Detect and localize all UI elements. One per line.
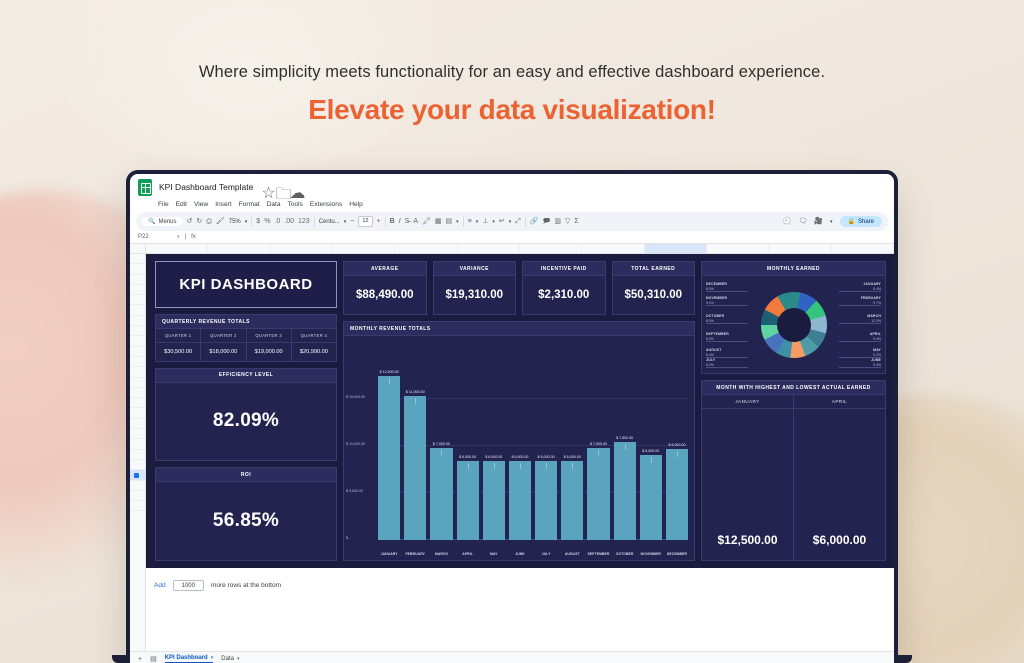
star-icon[interactable]: ☆ [261,183,269,191]
dashboard-right-column: MONTHLY EARNED JANUARY8.4%FEBRUARY9.7%MA… [701,261,886,561]
monthly-revenue-bar-chart: $ 15,000.00$ 10,000.00$ 5,000.00$ -$ 12,… [344,336,694,560]
print-icon[interactable]: ⎙ [206,218,212,225]
kpi-dashboard-canvas: KPI DASHBOARD QUARTERLY REVENUE TOTALS Q… [146,254,894,568]
chart-bar-label: $ 6,500.00 [642,449,659,453]
italic-icon[interactable]: I [399,218,401,225]
dashboard-middle-column: AVERAGE $88,490.00 VARIANCE $19,310.00 I… [343,261,695,561]
highest-month-label: JANUARY [702,395,794,408]
sheet-tab-data[interactable]: Data ▾ [221,656,239,662]
chart-bar-column: $ 6,000.00 [535,343,557,540]
donut-legend-label: JULY [706,358,715,363]
chart-bar [457,461,479,540]
sheet-tab-label: Data [221,656,234,662]
donut-legend-item: JANUARY8.4% [863,282,881,291]
column-header[interactable] [146,244,208,253]
row-header[interactable] [130,408,145,418]
value-q4: $20,990.00 [292,343,336,361]
chart-bar-column: $ 7,500.00 [614,343,636,540]
app-titlebar: KPI Dashboard Template ☆ 🗀 ☁ [130,174,894,200]
row-header[interactable] [130,305,145,315]
monthly-earned-donut-chart: JANUARY8.4%FEBRUARY9.7%MARCH12.3%APRIL9.… [702,276,885,373]
kpi-card-incentive-paid: INCENTIVE PAID $2,310.00 [522,261,606,315]
kpi-cards-row: AVERAGE $88,490.00 VARIANCE $19,310.00 I… [343,261,695,315]
toolbar-divider [314,217,315,227]
donut-legend-label: NOVEMBER [706,296,727,301]
row-header[interactable] [130,501,145,511]
donut-legend-item: MAY9.2% [873,348,881,357]
promo-headline: Elevate your data visualization! [0,94,1024,126]
version-history-icon[interactable]: 🕘 [783,218,792,225]
chart-x-tick-label: NOVEMBER [640,552,662,556]
monthly-revenue-chart-title: MONTHLY REVENUE TOTALS [344,322,694,336]
chart-bar-label: $ 6,900.00 [668,443,685,447]
decrease-decimal-icon[interactable]: .0 [274,218,280,225]
column-header[interactable] [769,244,831,253]
kpi-value-average: $88,490.00 [344,276,426,314]
donut-legend-label: DECEMBER [706,282,727,287]
present-meet-icon[interactable]: 🎥 [814,218,823,225]
sheets-logo-icon [138,179,152,196]
chart-bar [666,449,688,540]
row-header[interactable] [130,398,145,408]
column-header[interactable] [707,244,769,253]
row-header[interactable] [130,285,145,295]
decrease-font-size-icon[interactable]: − [350,218,354,225]
toolbar-divider [463,217,464,227]
lock-icon: 🔒 [848,218,855,225]
highest-lowest-panel: MONTH WITH HIGHEST AND LOWEST ACTUAL EAR… [701,380,886,561]
chart-bar-label: $ 12,500.00 [380,370,399,374]
chart-bar-label: $ 6,000.00 [511,455,528,459]
quarterly-revenue-table: QUARTER 1 $30,500.00 QUARTER 2 $18,000.0… [156,329,336,361]
add-rows-input[interactable]: 1000 [173,580,204,591]
insert-chart-icon[interactable]: ▥ [554,218,561,225]
donut-legend-value: 9.1% [706,301,714,305]
donut-leader-line [839,291,881,292]
donut-legend-label: FEBRUARY [861,296,881,301]
column-header[interactable] [395,244,457,253]
chart-bar [561,461,583,540]
chart-bar [404,396,426,540]
sheet-tab-kpi-dashboard[interactable]: KPI Dashboard ▾ [165,655,214,663]
column-headers [130,244,894,254]
row-header[interactable] [130,481,145,491]
undo-icon[interactable]: ↺ [187,218,193,225]
paint-format-icon[interactable]: 🖌 [216,218,225,225]
insert-comment-icon[interactable]: 🗩 [543,218,551,225]
chart-y-tick: $ 15,000.00 [346,395,365,399]
donut-legend-label: AUGUST [706,348,722,353]
donut-legend-value: 8.0% [706,337,714,341]
quarterly-revenue-header: QUARTERLY REVENUE TOTALS [156,315,336,329]
donut-legend-value: 12.3% [871,319,881,323]
donut-leader-line [706,323,748,324]
chart-bar [378,376,400,540]
column-header[interactable] [458,244,520,253]
text-rotation-icon[interactable]: ⤢ [515,218,521,225]
filter-icon[interactable]: ▽ [565,218,570,225]
row-header[interactable] [130,419,145,429]
add-rows-control: Add 1000 more rows at the bottom [154,580,281,591]
chart-x-tick-label: JUNE [509,552,531,556]
currency-format-icon[interactable]: $ [256,218,260,225]
add-rows-button[interactable]: Add [154,582,166,589]
kpi-value-variance: $19,310.00 [434,276,516,314]
menu-bar: File Edit View Insert Format Data Tools … [130,200,894,211]
roi-value: 56.85% [156,482,336,560]
chart-bar-column: $ 12,500.00 [378,343,400,540]
toolbar-divider [525,217,526,227]
chart-bar-column: $ 6,500.00 [640,343,662,540]
monthly-earned-title: MONTHLY EARNED [702,262,885,276]
row-header[interactable] [130,450,145,460]
kpi-header-incentive-paid: INCENTIVE PAID [523,262,605,276]
chart-y-tick: $ 10,000.00 [346,442,365,446]
chart-x-tick-label: JANUARY [378,552,400,556]
chart-bar-label: $ 7,000.00 [433,442,450,446]
add-rows-suffix: more rows at the bottom [211,582,281,589]
menu-item-edit[interactable]: Edit [176,201,187,208]
lowest-earned-value: $6,000.00 [794,409,885,560]
row-header[interactable] [130,336,145,346]
chart-x-tick-label: FEBRUARY [404,552,426,556]
highest-lowest-values: $12,500.00 $6,000.00 [702,409,885,560]
row-header[interactable] [130,357,145,367]
donut-legend-value: 8.4% [873,287,881,291]
function-icon[interactable]: fx [191,234,196,240]
chart-bar-label: $ 6,000.00 [485,455,502,459]
row-header[interactable] [130,295,145,305]
donut-legend-item: JULY8.2% [706,358,715,367]
chart-bar [640,455,662,540]
strikethrough-icon[interactable]: S̶ [405,218,410,225]
row-header[interactable] [130,429,145,439]
donut-legend-value: 9.4% [873,363,881,367]
vertical-align-icon[interactable]: ⊥ [482,218,488,225]
row-header[interactable] [130,326,145,336]
row-header[interactable] [130,316,145,326]
share-label: Share [858,219,874,225]
chart-bar-column: $ 7,000.00 [587,343,609,540]
toolbar-divider [251,217,252,227]
chart-bar-column: $ 6,000.00 [509,343,531,540]
bold-icon[interactable]: B [390,218,395,225]
chart-y-tick: $ - [346,536,350,540]
text-color-icon[interactable]: A [413,218,418,225]
column-header[interactable] [832,244,894,253]
title-action-icons: ☆ 🗀 ☁ [261,183,297,191]
chart-bar-column: $ 6,000.00 [457,343,479,540]
select-all-corner[interactable] [130,244,146,253]
promo-subheadline: Where simplicity meets functionality for… [0,62,1024,83]
row-header[interactable] [130,378,145,388]
chart-x-tick-label: MAY [483,552,505,556]
table-cell-q2: QUARTER 2 $18,000.00 [201,329,246,361]
document-title[interactable]: KPI Dashboard Template [159,182,253,192]
donut-center-hole [777,308,811,342]
sheet-tab-chevron-down-icon[interactable]: ▾ [237,656,240,662]
quarterly-revenue-panel: QUARTERLY REVENUE TOTALS QUARTER 1 $30,5… [155,314,337,362]
comment-history-icon[interactable]: 🗨 [798,218,807,225]
efficiency-level-panel: EFFICIENCY LEVEL 82.09% [155,368,337,462]
donut-leader-line [839,367,881,368]
chart-y-tick: $ 5,000.00 [346,489,363,493]
menu-item-file[interactable]: File [158,201,169,208]
highest-earned-value: $12,500.00 [702,409,794,560]
lowest-month-label: APRIL [794,395,885,408]
donut-leader-line [839,305,881,306]
chart-x-tick-label: DECEMBER [666,552,688,556]
chart-bar [587,448,609,540]
column-header[interactable] [520,244,582,253]
roi-header: ROI [156,468,336,482]
chart-x-tick-label: APRIL [457,552,479,556]
formula-bar: P22 ▾ | fx [130,231,894,244]
donut-legend-item: MARCH12.3% [867,314,881,323]
table-cell-q1: QUARTER 1 $30,500.00 [156,329,201,361]
kpi-card-variance: VARIANCE $19,310.00 [433,261,517,315]
chart-x-tick-label: MARCH [430,552,452,556]
donut-legend-item: NOVEMBER9.1% [706,296,727,305]
formatting-toolbar: 🔍 Menus ↺ ↻ ⎙ 🖌 75% ▾ $ % .0 .00 123 Cen… [136,212,888,231]
row-header[interactable] [130,367,145,377]
row-header-active[interactable] [130,470,145,480]
kpi-card-average: AVERAGE $88,490.00 [343,261,427,315]
kpi-header-variance: VARIANCE [434,262,516,276]
chart-bar-label: $ 6,000.00 [564,455,581,459]
share-button[interactable]: 🔒 Share [840,216,883,227]
chart-bar-column: $ 6,900.00 [666,343,688,540]
menus-search-button[interactable]: 🔍 Menus [142,217,183,226]
donut-legend-item: OCTOBER8.0% [706,314,724,323]
efficiency-level-header: EFFICIENCY LEVEL [156,369,336,383]
chart-bar-label: $ 6,000.00 [538,455,555,459]
spreadsheet-grid[interactable]: KPI DASHBOARD QUARTERLY REVENUE TOTALS Q… [130,244,894,663]
search-icon: 🔍 [148,218,155,225]
fill-color-icon[interactable]: 🖍 [422,218,431,225]
kpi-value-incentive-paid: $2,310.00 [523,276,605,314]
row-header[interactable] [130,439,145,449]
donut-legend-item: JUNE9.4% [871,358,881,367]
column-header[interactable] [208,244,270,253]
table-cell-q3: QUARTER 3 $19,000.00 [247,329,292,361]
zoom-level[interactable]: 75% [229,219,241,225]
donut-leader-line [706,341,748,342]
donut-leader-line [706,367,748,368]
donut-ring [761,292,827,358]
more-formats-icon[interactable]: 123 [298,218,310,225]
kpi-header-total-earned: TOTAL EARNED [613,262,695,276]
chart-bar-column: $ 6,000.00 [483,343,505,540]
row-header[interactable] [130,388,145,398]
column-label-q4: QUARTER 4 [292,329,336,343]
highest-lowest-month-labels: JANUARY APRIL [702,395,885,409]
value-q1: $30,500.00 [156,343,200,361]
column-header[interactable] [582,244,644,253]
donut-legend-label: OCTOBER [706,314,724,319]
toolbar-right-cluster: 🕘 🗨 🎥 ▾ 🔒 Share [783,216,882,227]
column-label-q2: QUARTER 2 [201,329,245,343]
increase-decimal-icon[interactable]: .00 [284,218,294,225]
laptop-screen: KPI Dashboard Template ☆ 🗀 ☁ File Edit V… [126,170,898,663]
donut-legend-label: JUNE [871,358,881,363]
donut-legend-label: APRIL [870,332,881,337]
insert-link-icon[interactable]: 🔗 [530,218,539,225]
column-header[interactable] [333,244,395,253]
toolbar-divider [385,217,386,227]
cloud-saved-icon: ☁ [289,183,297,191]
chart-bar [535,461,557,540]
efficiency-level-value: 82.09% [156,383,336,461]
all-sheets-icon[interactable]: ▤ [150,655,157,663]
donut-legend-item: APRIL9.4% [870,332,881,341]
font-size-input[interactable]: 12 [358,216,372,227]
menu-item-help[interactable]: Help [349,201,363,208]
add-sheet-icon[interactable]: + [138,656,142,663]
align-chevron-down-icon[interactable]: ▾ [476,219,479,225]
donut-legend-label: MARCH [867,314,881,319]
donut-legend-value: 9.2% [873,353,881,357]
percent-format-icon[interactable]: % [264,218,270,225]
chart-bar-label: $ 11,000.00 [406,390,425,394]
chart-bar [430,448,452,540]
chart-x-tick-label: AUGUST [561,552,583,556]
column-label-q1: QUARTER 1 [156,329,200,343]
zoom-chevron-down-icon[interactable]: ▾ [245,219,248,225]
donut-legend-value: 9.4% [873,337,881,341]
chart-bar-column: $ 7,000.00 [430,343,452,540]
donut-leader-line [706,305,748,306]
table-cell-q4: QUARTER 4 $20,990.00 [292,329,336,361]
increase-font-size-icon[interactable]: + [377,218,381,225]
donut-legend-item: SEPTEMBER8.0% [706,332,729,341]
valign-chevron-down-icon[interactable]: ▾ [492,219,495,225]
monthly-earned-donut-panel: MONTHLY EARNED JANUARY8.4%FEBRUARY9.7%MA… [701,261,886,374]
borders-icon[interactable]: ▦ [435,218,442,225]
menu-item-view[interactable]: View [194,201,208,208]
move-folder-icon[interactable]: 🗀 [275,183,283,191]
chart-x-tick-label: OCTOBER [614,552,636,556]
sheet-tab-bar: + ▤ KPI Dashboard ▾ Data ▾ [130,651,894,663]
column-header-selected[interactable] [645,244,707,253]
row-header[interactable] [130,460,145,470]
wrap-chevron-down-icon[interactable]: ▾ [509,219,512,225]
donut-leader-line [706,291,748,292]
kpi-card-total-earned: TOTAL EARNED $50,310.00 [612,261,696,315]
donut-legend-label: SEPTEMBER [706,332,729,337]
donut-legend-value: 8.2% [706,363,714,367]
row-header[interactable] [130,254,145,264]
highest-lowest-header: MONTH WITH HIGHEST AND LOWEST ACTUAL EAR… [702,381,885,395]
font-family-select[interactable]: Centu... [319,219,340,225]
menus-label: Menus [158,219,176,225]
row-headers [130,254,146,663]
kpi-value-total-earned: $50,310.00 [613,276,695,314]
donut-legend-value: 8.0% [706,319,714,323]
font-chevron-down-icon[interactable]: ▾ [344,219,347,225]
donut-legend-label: MAY [873,348,881,353]
dashboard-left-column: KPI DASHBOARD QUARTERLY REVENUE TOTALS Q… [155,261,337,561]
chart-bar-column: $ 11,000.00 [404,343,426,540]
chart-bar [483,461,505,540]
donut-legend-value: 9.7% [873,301,881,305]
merge-cells-icon[interactable]: ▤ [446,218,453,225]
donut-legend-item: AUGUST8.4% [706,348,722,357]
donut-legend-label: JANUARY [863,282,881,287]
monthly-revenue-chart-panel: MONTHLY REVENUE TOTALS $ 15,000.00$ 10,0… [343,321,695,561]
donut-leader-line [839,341,881,342]
chart-bar-label: $ 6,000.00 [459,455,476,459]
donut-legend-item: FEBRUARY9.7% [861,296,881,305]
chart-bar [509,461,531,540]
redo-icon[interactable]: ↻ [196,218,202,225]
text-wrap-icon[interactable]: ↵ [499,218,505,225]
chart-bar-label: $ 7,000.00 [590,442,607,446]
row-header[interactable] [130,264,145,274]
chart-x-tick-label: JULY [535,552,557,556]
formula-divider: | [185,234,187,240]
value-q2: $18,000.00 [201,343,245,361]
chart-bar [614,442,636,541]
kpi-header-average: AVERAGE [344,262,426,276]
roi-panel: ROI 56.85% [155,467,337,561]
chart-bar-column: $ 6,000.00 [561,343,583,540]
column-header[interactable] [271,244,333,253]
meet-chevron-down-icon[interactable]: ▾ [830,219,833,225]
promo-headline-block: Where simplicity meets functionality for… [0,62,1024,126]
name-box-chevron-down-icon[interactable]: ▾ [177,234,180,240]
page-title: KPI DASHBOARD [179,276,312,293]
sheet-tab-chevron-down-icon[interactable]: ▾ [211,655,214,661]
chart-bars: $ 12,500.00$ 11,000.00$ 7,000.00$ 6,000.… [378,343,688,540]
functions-icon[interactable]: Σ [574,218,578,225]
cell-reference-box[interactable]: P22 [138,234,172,240]
row-header[interactable] [130,347,145,357]
column-label-q3: QUARTER 3 [247,329,291,343]
donut-legend-item: DECEMBER8.0% [706,282,727,291]
menu-item-format[interactable]: Format [239,201,260,208]
chart-x-tick-label: SEPTEMBER [587,552,609,556]
merge-chevron-down-icon[interactable]: ▾ [456,219,459,225]
dashboard-title-box: KPI DASHBOARD [155,261,337,308]
row-header[interactable] [130,491,145,501]
chart-x-axis-labels: JANUARYFEBRUARYMARCHAPRILMAYJUNEJULYAUGU… [378,552,688,556]
horizontal-align-icon[interactable]: ≡ [468,218,472,225]
menu-item-insert[interactable]: Insert [215,201,232,208]
menu-item-extensions[interactable]: Extensions [310,201,342,208]
donut-legend-value: 8.0% [706,287,714,291]
sheet-tab-label: KPI Dashboard [165,655,208,661]
donut-legend-value: 8.4% [706,353,714,357]
row-header[interactable] [130,275,145,285]
donut-leader-line [839,323,881,324]
chart-bar-label: $ 7,500.00 [616,436,633,440]
value-q3: $19,000.00 [247,343,291,361]
